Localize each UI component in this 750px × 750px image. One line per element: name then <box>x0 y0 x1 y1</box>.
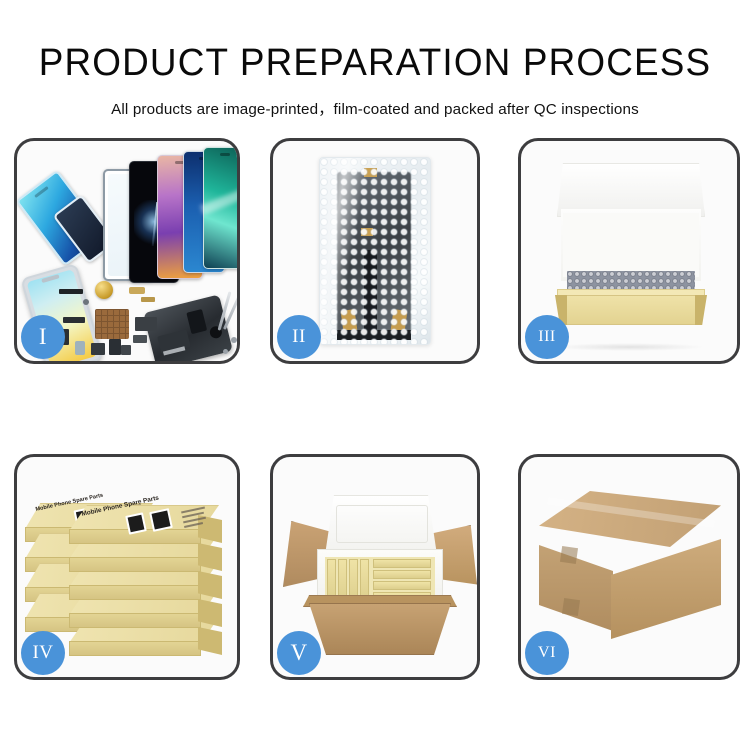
step-badge-3: III <box>525 315 569 359</box>
tweezers-icon <box>215 291 240 331</box>
kraft-box-front-1: Mobile Phone Spare Parts <box>69 505 219 549</box>
step-panel-2: II <box>270 138 480 364</box>
phone-screen-teal-gradient <box>203 147 240 269</box>
page-subtitle: All products are image-printed，film-coat… <box>0 97 750 119</box>
part-gold-flex <box>141 297 155 302</box>
step-panel-3: III <box>518 138 740 364</box>
carton-front-face <box>309 603 451 655</box>
kraft-box-in-foam <box>373 559 431 568</box>
part-module <box>135 317 157 331</box>
bubble-wrap-bag <box>319 157 431 345</box>
part-vibration-motor <box>121 345 131 355</box>
part-sim-tray <box>75 341 85 355</box>
header: PRODUCT PREPARATION PROCESS All products… <box>0 0 750 119</box>
step-panel-6: VI <box>518 454 740 680</box>
process-step-grid: I II <box>0 132 750 692</box>
speaker-component <box>95 281 113 299</box>
box-tray-side-right <box>695 295 707 325</box>
screw-1 <box>231 337 237 343</box>
step-badge-4: IV <box>21 631 65 675</box>
step-badge-5: V <box>277 631 321 675</box>
part-flex-cable <box>63 317 85 323</box>
carton-right-face <box>611 539 721 639</box>
step-panel-1: I <box>14 138 240 364</box>
kraft-box-in-foam <box>373 581 431 590</box>
box-window-2 <box>149 508 173 532</box>
screw-3 <box>83 299 89 305</box>
foam-lid <box>325 495 437 555</box>
page-title: PRODUCT PREPARATION PROCESS <box>11 44 739 82</box>
screw-2 <box>223 349 228 354</box>
sealed-carton <box>539 491 721 641</box>
carton-tape-mark-2 <box>562 598 580 616</box>
kraft-box-in-foam <box>373 570 431 579</box>
part-camera-block <box>91 343 105 355</box>
step-badge-2: II <box>277 315 321 359</box>
box-shadow <box>553 343 704 351</box>
product-preparation-infographic: PRODUCT PREPARATION PROCESS All products… <box>0 0 750 750</box>
step-badge-1: I <box>21 315 65 359</box>
part-battery-connector <box>109 339 121 355</box>
part-gold-connector <box>129 287 145 294</box>
chip-grid-component <box>95 309 129 339</box>
carton-left-face <box>539 531 613 631</box>
box-tray-front <box>555 295 707 325</box>
step-panel-5: V <box>270 454 480 680</box>
part-small-module <box>133 335 147 343</box>
box-window-1 <box>125 512 147 534</box>
step-panel-4: Mobile Phone Spare Parts <box>14 454 240 680</box>
step-badge-6: VI <box>525 631 569 675</box>
part-strip <box>59 289 83 294</box>
carton-tape-mark-1 <box>560 546 578 564</box>
open-kraft-box <box>545 163 715 333</box>
foam-sheet-inner <box>563 213 699 277</box>
open-shipping-carton <box>289 495 469 655</box>
